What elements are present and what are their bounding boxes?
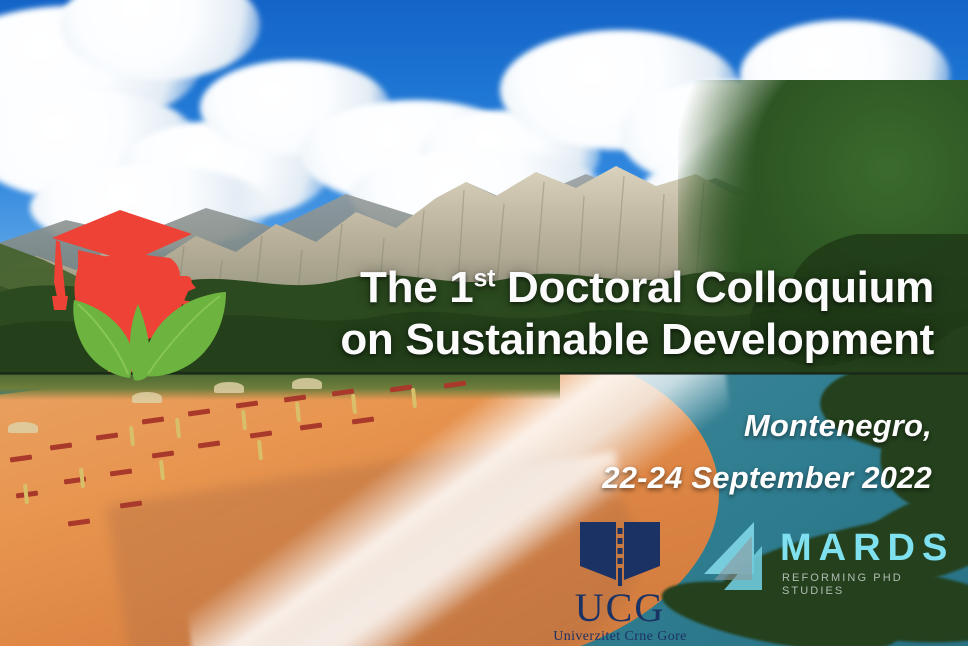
poster-title: The 1st Doctoral Colloquium on Sustainab… <box>254 262 934 366</box>
title-line-1-rest: Doctoral Colloquium <box>495 263 934 312</box>
poster-subtitle: Montenegro, 22-24 September 2022 <box>312 400 932 504</box>
beach-umbrella-open <box>292 378 322 389</box>
event-dates: 22-24 September 2022 <box>312 452 932 504</box>
title-line-1-prefix: The 1 <box>360 263 473 312</box>
open-book-icon <box>576 516 664 586</box>
mards-logo: MARDS REFORMING PHD STUDIES <box>702 518 940 598</box>
beach-umbrella-open <box>214 382 244 393</box>
title-line-1: The 1st Doctoral Colloquium <box>254 262 934 314</box>
ucg-acronym: UCG <box>540 588 700 628</box>
title-line-2: on Sustainable Development <box>254 314 934 366</box>
mards-wordmark: MARDS <box>780 528 954 568</box>
event-location: Montenegro, <box>312 400 932 452</box>
double-triangle-icon <box>702 518 778 592</box>
beach-umbrella-open <box>132 392 162 403</box>
ordinal-suffix: st <box>473 264 495 292</box>
mards-tagline: REFORMING PHD STUDIES <box>782 572 940 598</box>
conference-poster: The 1st Doctoral Colloquium on Sustainab… <box>0 0 968 646</box>
beach-umbrella-open <box>8 422 38 433</box>
ucg-full-name: Univerzitet Crne Gore <box>540 629 700 645</box>
ucg-logo: UCG Univerzitet Crne Gore <box>540 516 700 645</box>
graduate-with-leaves-emblem <box>34 196 264 381</box>
